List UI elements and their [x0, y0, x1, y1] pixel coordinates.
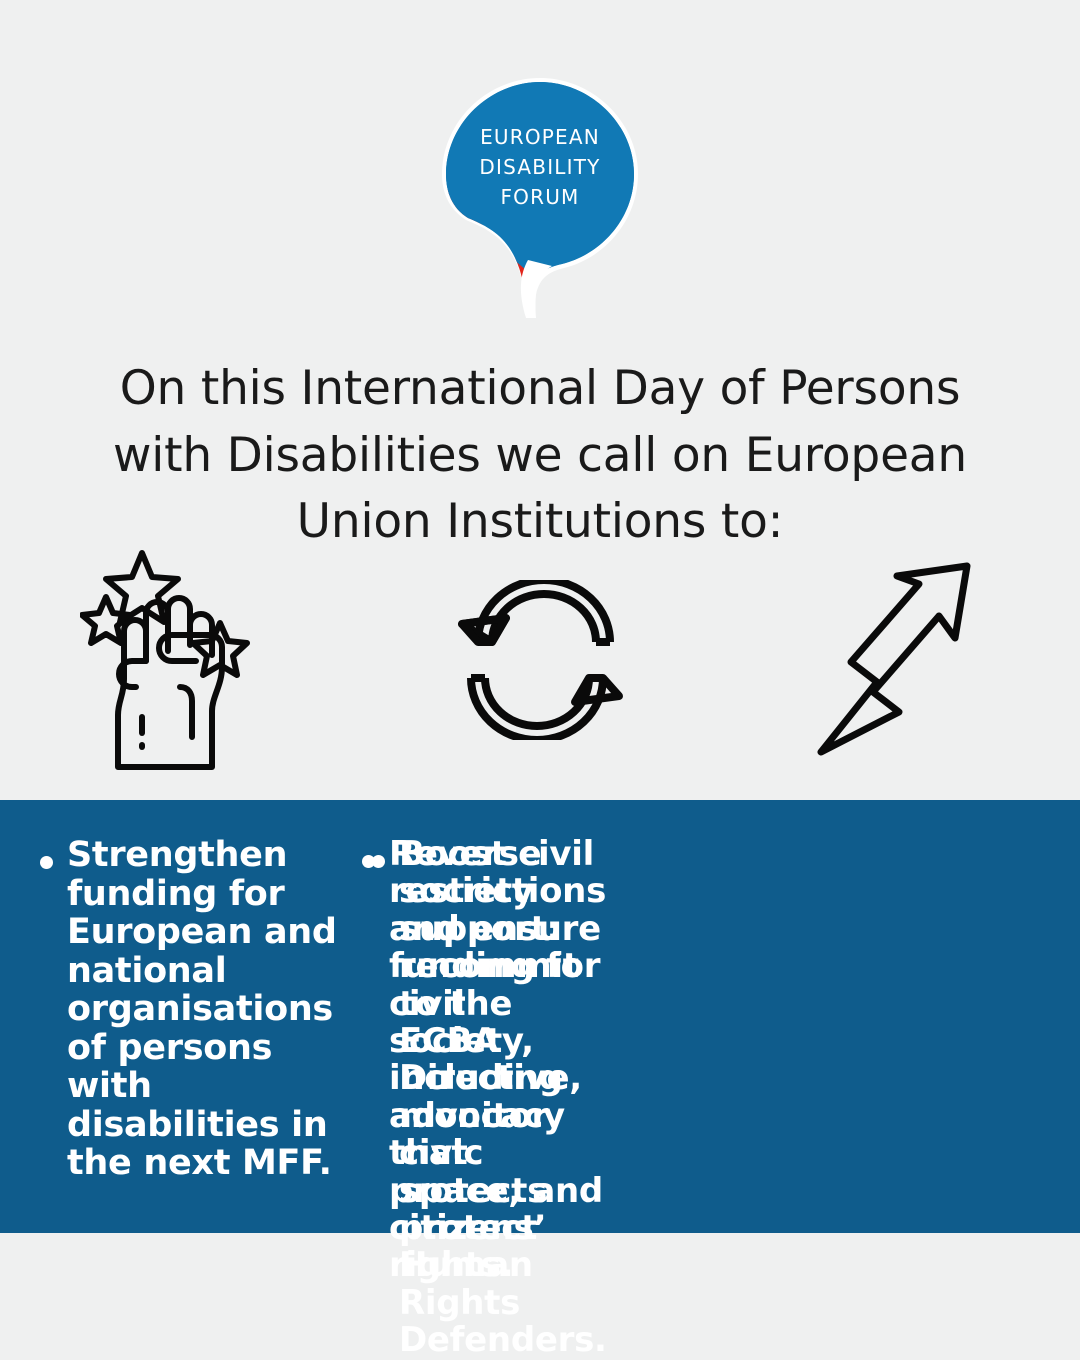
logo-container: EUROPEAN DISABILITY FORUM	[0, 78, 1080, 318]
call-to-action-band: Strengthen funding for European and nati…	[0, 800, 1080, 1233]
logo-line-1: EUROPEAN	[480, 125, 600, 149]
logo-line-3: FORUM	[500, 185, 579, 209]
icon-row	[0, 540, 1080, 780]
bullet-text: Boost civil society support: recommit to…	[399, 836, 607, 1359]
icon-cell-boost	[720, 540, 1080, 780]
icon-cell-strengthen	[0, 540, 360, 780]
circular-arrows-reverse-icon	[448, 580, 633, 740]
logo-tail	[521, 260, 552, 318]
bullet-marker-icon	[372, 855, 385, 868]
poster-canvas: EUROPEAN DISABILITY FORUM On this Intern…	[0, 0, 1080, 1350]
raised-fist-with-stars-icon	[80, 545, 280, 775]
bullet-list: Strengthen funding for European and nati…	[0, 800, 1080, 1359]
icon-cell-reverse	[360, 540, 720, 780]
logo-line-2: DISABILITY	[479, 155, 600, 179]
european-disability-forum-logo: EUROPEAN DISABILITY FORUM	[440, 78, 640, 318]
lightning-bolt-arrow-up-icon	[815, 560, 985, 760]
bullet-item-boost-civil-society: Boost civil society support: recommit to…	[0, 836, 394, 1359]
page-title: On this International Day of Persons wit…	[70, 356, 1010, 556]
